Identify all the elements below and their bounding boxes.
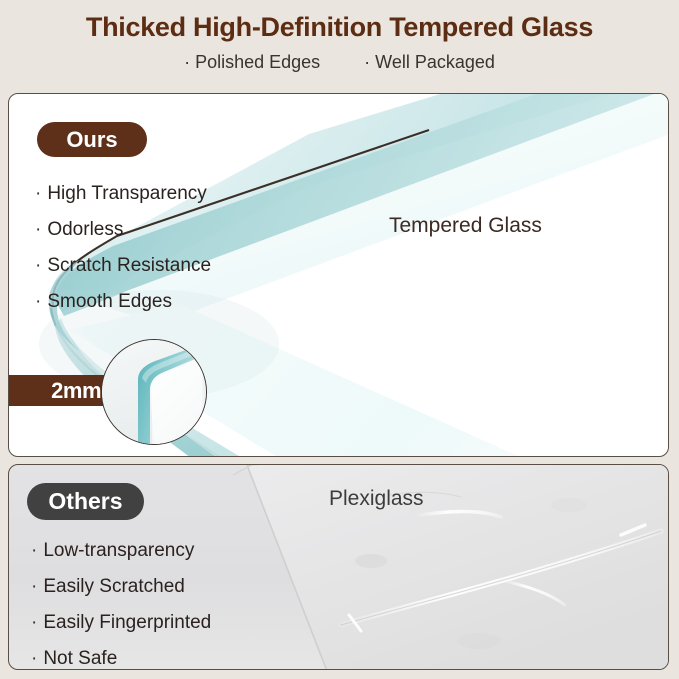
- badge-others-label: Others: [48, 488, 122, 515]
- subtitle-label: Polished Edges: [195, 52, 320, 72]
- plexi-smudge-3: [551, 498, 587, 512]
- plexiglass-label: Plexiglass: [329, 487, 424, 511]
- list-item: ·High Transparency: [35, 176, 211, 212]
- list-item: ·Not Safe: [31, 641, 211, 670]
- bullet-dot-icon: ·: [31, 569, 37, 605]
- plexi-scratch-tip: [349, 615, 361, 631]
- feature-label: Smooth Edges: [47, 291, 172, 312]
- list-item: ·Odorless: [35, 212, 211, 248]
- page-title: Thicked High-Definition Tempered Glass: [0, 10, 679, 44]
- feature-label: High Transparency: [47, 183, 206, 204]
- plexi-scratch-main: [341, 531, 661, 625]
- feature-label: Easily Fingerprinted: [43, 612, 211, 633]
- ours-comparison-card: Tempered Glass Ours ·High Transparency ·…: [8, 93, 669, 457]
- plexi-scratch-main-shadow: [341, 531, 661, 625]
- feature-label: Not Safe: [43, 648, 117, 669]
- others-comparison-card: Plexiglass Others ·Low-transparency ·Eas…: [8, 464, 669, 670]
- plexi-smudge-1: [355, 554, 387, 568]
- others-feature-list: ·Low-transparency ·Easily Scratched ·Eas…: [31, 533, 211, 670]
- subtitle-polished-edges: ·Polished Edges: [184, 51, 320, 73]
- plexi-edge-left: [247, 465, 327, 670]
- subtitle-label: Well Packaged: [375, 52, 495, 72]
- feature-label: Scratch Resistance: [47, 255, 211, 276]
- bullet-dot-icon: ·: [35, 212, 41, 248]
- badge-ours: Ours: [37, 122, 147, 157]
- bullet-dot-icon: ·: [184, 51, 190, 73]
- plexi-corner-bevel: [233, 465, 259, 475]
- bullet-dot-icon: ·: [35, 284, 41, 320]
- feature-label: Odorless: [47, 219, 123, 240]
- subtitle-row: ·Polished Edges ·Well Packaged: [0, 51, 679, 73]
- list-item: ·Low-transparency: [31, 533, 211, 569]
- bullet-dot-icon: ·: [35, 248, 41, 284]
- feature-label: Low-transparency: [43, 540, 194, 561]
- subtitle-well-packaged: ·Well Packaged: [364, 51, 495, 73]
- plexi-scratch-branch-1: [505, 581, 565, 605]
- bullet-dot-icon: ·: [35, 176, 41, 212]
- list-item: ·Easily Scratched: [31, 569, 211, 605]
- badge-others: Others: [27, 483, 144, 520]
- ours-feature-list: ·High Transparency ·Odorless ·Scratch Re…: [35, 176, 211, 320]
- edge-detail-inset: [101, 339, 207, 445]
- polished-edge-closeup-icon: [102, 340, 206, 444]
- thickness-label: 2mm: [51, 378, 101, 404]
- header: Thicked High-Definition Tempered Glass ·…: [0, 0, 679, 73]
- bullet-dot-icon: ·: [31, 605, 37, 641]
- plexi-smudge-2: [457, 633, 501, 649]
- bullet-dot-icon: ·: [31, 641, 37, 670]
- feature-label: Easily Scratched: [43, 576, 185, 597]
- plexi-scratch-tip-2: [621, 525, 645, 535]
- thickness-callout-bar: 2mm: [9, 375, 112, 406]
- bullet-dot-icon: ·: [364, 51, 370, 73]
- list-item: ·Smooth Edges: [35, 284, 211, 320]
- tempered-glass-label: Tempered Glass: [389, 214, 542, 238]
- list-item: ·Scratch Resistance: [35, 248, 211, 284]
- badge-ours-label: Ours: [66, 127, 117, 153]
- list-item: ·Easily Fingerprinted: [31, 605, 211, 641]
- bullet-dot-icon: ·: [31, 533, 37, 569]
- plexi-scratch-branch-2: [419, 512, 501, 518]
- plexi-panel-face: [247, 465, 669, 670]
